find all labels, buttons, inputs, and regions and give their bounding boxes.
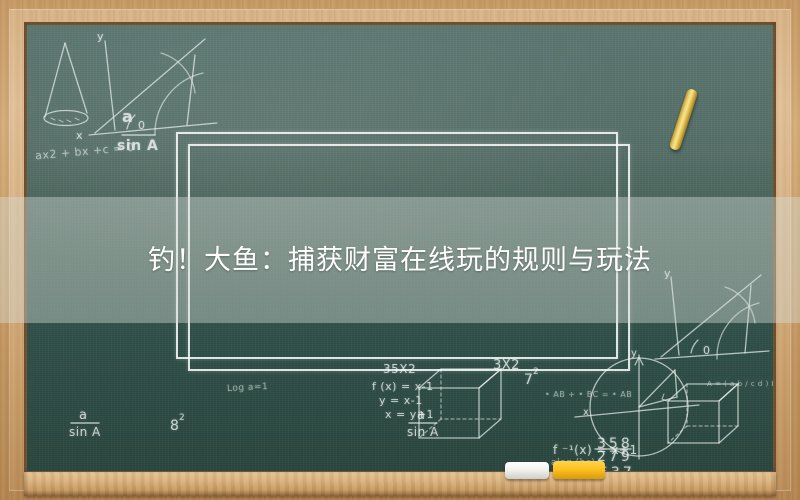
cube-c-top: [419, 369, 501, 388]
inverse-function-note: f ⁻¹(x) = x+1: [553, 443, 638, 457]
cone-left-edge: [45, 43, 65, 117]
cone-base-ellipse: [44, 111, 88, 126]
power-seven-base: 7: [524, 372, 533, 388]
cone-base-hatch: [51, 118, 79, 122]
circle-radius: [639, 370, 675, 407]
axis-label-y-topleft: y: [97, 30, 104, 43]
function-y: y = x-1: [379, 394, 423, 407]
tray-yellow-chalk: [553, 461, 605, 479]
cube-r-hidden: [687, 384, 738, 426]
floating-yellow-chalk: [669, 88, 699, 151]
cone-right-edge: [65, 43, 87, 113]
tl-arc-2: [161, 53, 195, 93]
circle-perp: [675, 370, 677, 397]
circle-base: [639, 397, 677, 407]
cube-r-hidden-edge: [668, 426, 687, 443]
subtraction-minuend: 358: [597, 436, 633, 452]
page-title: 钓！大鱼：捕获财富在线玩的规则与玩法: [0, 197, 800, 323]
circle-axis-x: [575, 405, 699, 417]
angle-label-topleft: 0: [138, 119, 146, 132]
vector-addition-note: • AB + • BC = • AB: [545, 390, 632, 399]
axis-label-x-circle: x: [583, 407, 589, 418]
chalkboard-banner: a sin A y x 0 ax2 + bx +c = 0 y 0 f (x) …: [0, 0, 800, 500]
function-fx: f (x) = x-1: [372, 380, 434, 393]
tray-white-chalk: [505, 462, 549, 479]
angle-label-right: 0: [703, 344, 711, 357]
cube-c-side: [479, 369, 501, 438]
tl-angle-arc: [127, 115, 135, 129]
axis-label-y-circle: y: [631, 348, 637, 359]
chalk-tray: [24, 472, 776, 496]
r-angle-arc: [691, 340, 698, 353]
tl-vertical-leg: [187, 55, 195, 125]
r-axis-x: [655, 351, 769, 359]
power-eight-base: 8: [170, 418, 179, 434]
cube-c-front: [419, 388, 479, 438]
quadratic-equation: ax2 + bx +c = 0: [35, 141, 135, 163]
fraction-numerator-a: a: [122, 107, 133, 126]
fraction3-denominator-sina: sin A: [407, 425, 439, 439]
fraction2-denominator-sina: sin A: [69, 425, 101, 439]
axis-label-x-topleft: x: [76, 129, 83, 142]
matrix-note: A = ( a b / c d ) B = ( e f / g h ) AB =…: [707, 380, 773, 388]
axis-arrow-y: [635, 357, 643, 365]
log-note-1: Log a=1: [227, 382, 269, 394]
function-x: x = y+1: [385, 408, 434, 421]
cube-c-hidden-edge: [419, 419, 441, 438]
fraction2-numerator-a: a: [79, 408, 87, 423]
cube-r-top: [668, 384, 738, 401]
power-eight-exponent: 2: [179, 413, 185, 423]
tl-arc-1: [155, 73, 203, 135]
cube-r-front: [668, 401, 719, 443]
tl-axis-y: [105, 41, 115, 130]
fraction-denominator-sina: sin A: [117, 138, 158, 154]
fraction3-numerator-a: a: [417, 408, 425, 423]
unit-circle: [590, 358, 688, 456]
cube-c-hidden: [441, 369, 501, 419]
cube-r-side: [719, 384, 738, 443]
right-angle-mark: [662, 394, 667, 401]
tl-hypotenuse: [95, 39, 205, 133]
